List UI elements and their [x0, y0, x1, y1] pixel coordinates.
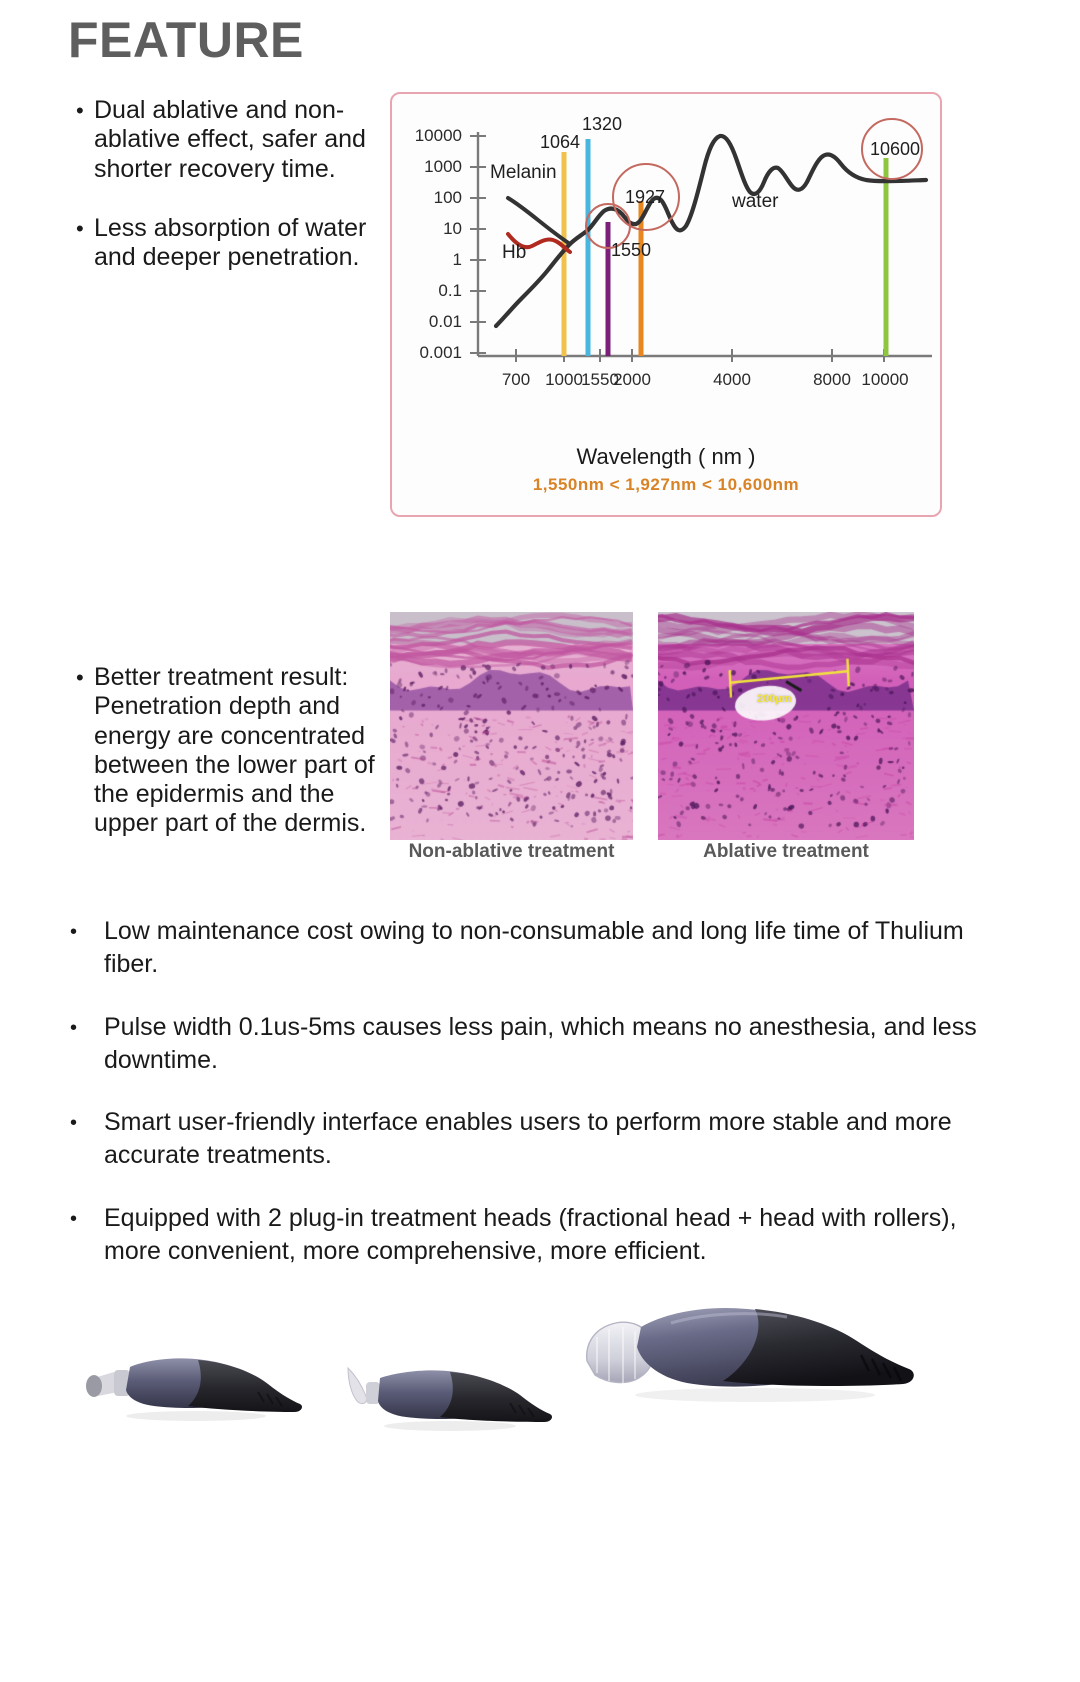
list-item: • Equipped with 2 plug-in treatment head… — [70, 1202, 980, 1269]
histology-image-non-ablative — [390, 612, 633, 840]
y-tick-label: 0.1 — [392, 281, 462, 301]
histology-image-ablative — [658, 612, 914, 840]
absorption-spectrum-chart: 10000 1000 100 10 1 0.1 0.01 0.001 700 1… — [390, 92, 942, 517]
y-tick-label: 0.001 — [392, 343, 462, 363]
y-tick-label: 1 — [392, 250, 462, 270]
curve-label-hb: Hb — [502, 242, 526, 264]
y-tick-label: 10 — [392, 219, 462, 239]
curve-label-melanin: Melanin — [490, 162, 557, 184]
list-item-text: Better treatment result: Penetration dep… — [94, 663, 390, 839]
bullet-icon: • — [70, 1011, 104, 1045]
list-item-text: Dual ablative and non-ablative effect, s… — [94, 96, 372, 184]
x-tick-label: 2000 — [602, 370, 662, 390]
bullet-icon: • — [70, 915, 104, 949]
x-tick-label: 4000 — [702, 370, 762, 390]
bullet-icon: • — [70, 1106, 104, 1140]
marker-label-1064: 1064 — [540, 132, 580, 153]
list-item: • Smart user-friendly interface enables … — [70, 1106, 980, 1173]
feature-bullet-list: • Low maintenance cost owing to non-cons… — [70, 915, 980, 1297]
marker-label-10600: 10600 — [870, 139, 920, 160]
chart-note: 1,550nm < 1,927nm < 10,600nm — [392, 475, 940, 495]
list-item-text: Smart user-friendly interface enables us… — [104, 1106, 980, 1173]
histology-caption-right: Ablative treatment — [658, 841, 914, 863]
bullet-icon: • — [70, 1202, 104, 1236]
scale-bar-label: 200µm — [757, 693, 791, 705]
list-item-text: Equipped with 2 plug-in treatment heads … — [104, 1202, 980, 1269]
list-item: • Better treatment result: Penetration d… — [72, 663, 390, 839]
bullet-icon: • — [72, 96, 94, 126]
bullet-icon: • — [72, 663, 94, 693]
product-image-handpiece-roller — [340, 1330, 560, 1450]
y-tick-label: 0.01 — [392, 312, 462, 332]
marker-label-1927: 1927 — [625, 187, 665, 208]
y-tick-label: 1000 — [392, 157, 462, 177]
left-bullet-list-secondary: • Better treatment result: Penetration d… — [72, 663, 390, 869]
y-tick-label: 100 — [392, 188, 462, 208]
list-item-text: Pulse width 0.1us-5ms causes less pain, … — [104, 1011, 980, 1078]
x-tick-label: 10000 — [850, 370, 920, 390]
y-tick-label: 10000 — [392, 126, 462, 146]
list-item: • Dual ablative and non-ablative effect,… — [72, 96, 372, 184]
list-item: • Less absorption of water and deeper pe… — [72, 214, 372, 273]
histology-caption-left: Non-ablative treatment — [390, 841, 633, 863]
product-image-handpiece-large — [575, 1265, 925, 1450]
bullet-icon: • — [72, 214, 94, 244]
list-item-text: Low maintenance cost owing to non-consum… — [104, 915, 980, 982]
product-image-handpiece-small — [78, 1320, 308, 1450]
x-axis-title: Wavelength ( nm ) — [392, 444, 940, 470]
list-item: • Pulse width 0.1us-5ms causes less pain… — [70, 1011, 980, 1078]
list-item-text: Less absorption of water and deeper pene… — [94, 214, 372, 273]
list-item: • Low maintenance cost owing to non-cons… — [70, 915, 980, 982]
left-bullet-list: • Dual ablative and non-ablative effect,… — [72, 96, 372, 302]
marker-label-1320: 1320 — [582, 114, 622, 135]
curve-label-water: water — [732, 191, 778, 213]
chart-plot-area: 10000 1000 100 10 1 0.1 0.01 0.001 700 1… — [392, 94, 940, 515]
page-title: FEATURE — [68, 14, 304, 67]
marker-label-1550: 1550 — [611, 240, 651, 261]
